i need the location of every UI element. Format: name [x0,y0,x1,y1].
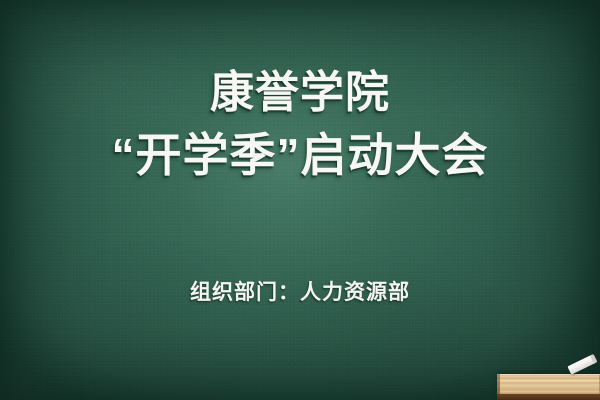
title-line-2: “开学季”启动大会 [0,124,600,186]
ledge-left-edge [497,374,500,394]
slide-text-layer: 康誉学院 “开学季”启动大会 组织部门：人力资源部 [0,0,600,400]
ledge-front-face [497,394,600,400]
slide-title: 康誉学院 “开学季”启动大会 [0,62,600,186]
chalkboard-title-slide: 康誉学院 “开学季”启动大会 组织部门：人力资源部 [0,0,600,400]
slide-subtitle-organizing-department: 组织部门：人力资源部 [0,276,600,306]
ledge-wood-grain [497,374,600,394]
title-line-1: 康誉学院 [0,62,600,124]
wooden-chalk-ledge [497,374,600,400]
